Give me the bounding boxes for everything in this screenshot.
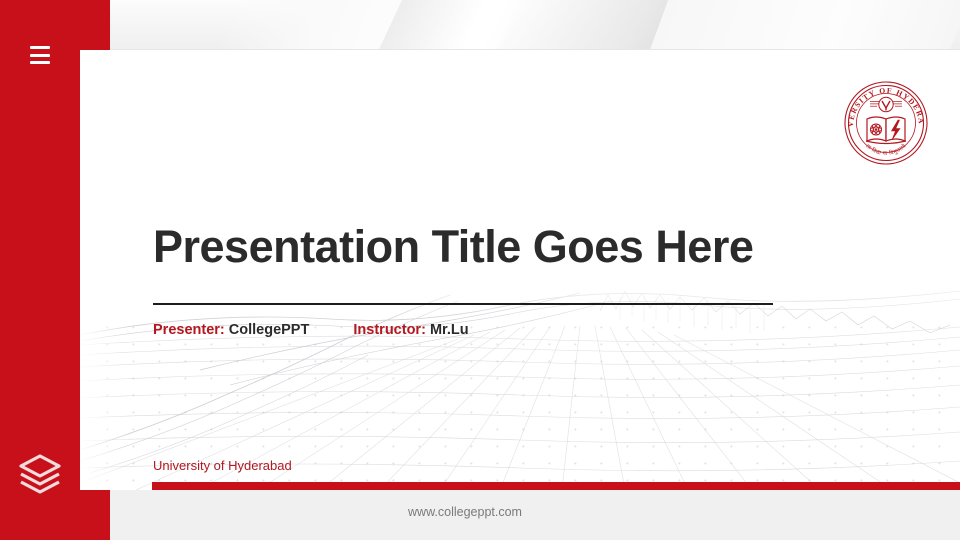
hamburger-bar bbox=[30, 61, 50, 64]
layers-stack-icon[interactable] bbox=[14, 448, 66, 500]
title-divider bbox=[153, 303, 773, 305]
instructor-name: Mr.Lu bbox=[430, 322, 469, 338]
slide-canvas: UNIVERSITY OF HYDERABAD सा विद्या या विम… bbox=[80, 50, 960, 490]
bottom-red-bar bbox=[152, 482, 960, 490]
slide-viewer: UNIVERSITY OF HYDERABAD सा विद्या या विम… bbox=[0, 0, 960, 540]
presenter-meta: Presenter: CollegePPT Instructor: Mr.Lu bbox=[153, 322, 469, 338]
presenter-label: Presenter: bbox=[153, 322, 225, 338]
presenter-name: CollegePPT bbox=[229, 322, 310, 338]
svg-text:सा विद्या या विमुक्तये: सा विद्या या विमुक्तये bbox=[864, 142, 908, 157]
university-logo: UNIVERSITY OF HYDERABAD सा विद्या या विम… bbox=[840, 77, 932, 169]
instructor-label: Instructor: bbox=[353, 322, 426, 338]
top-decorative-band bbox=[0, 0, 960, 50]
hamburger-bar bbox=[30, 46, 50, 49]
hamburger-menu-icon[interactable] bbox=[30, 46, 50, 64]
organization-name: University of Hyderabad bbox=[153, 458, 292, 473]
page-title: Presentation Title Goes Here bbox=[153, 221, 753, 273]
hamburger-bar bbox=[30, 54, 50, 57]
footer-url: www.collegeppt.com bbox=[0, 505, 960, 519]
